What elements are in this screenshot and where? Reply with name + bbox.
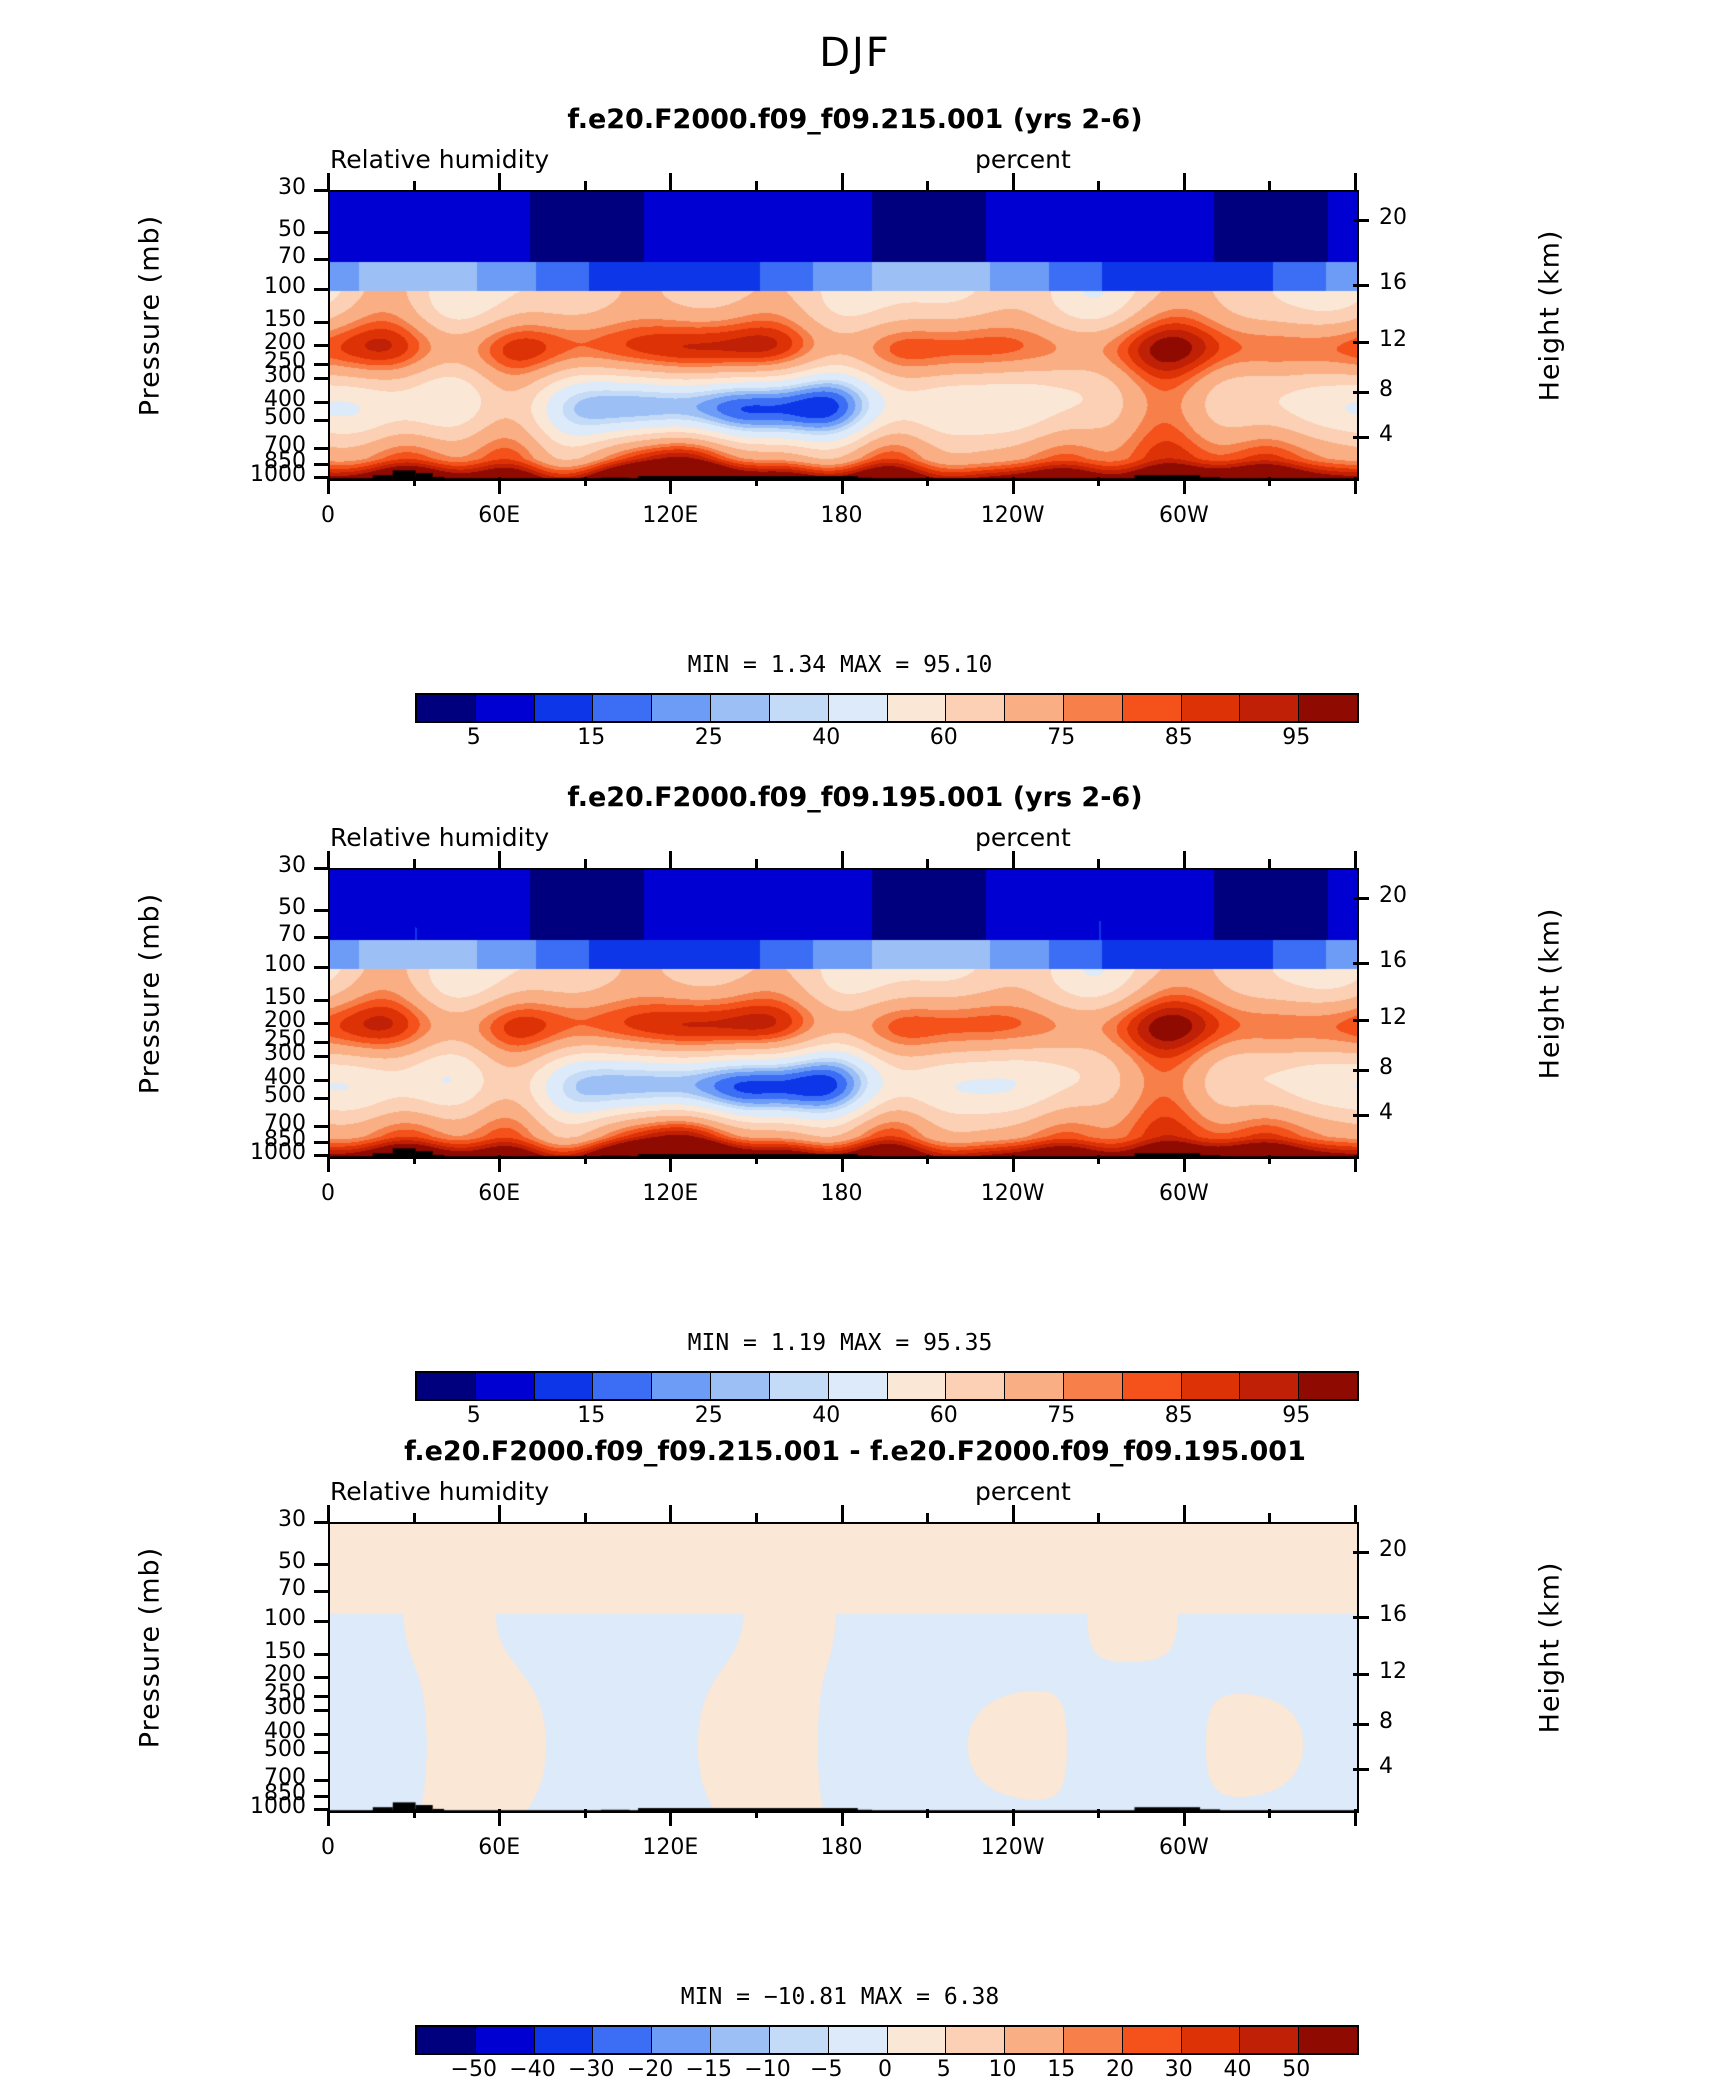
colorbar-swatch — [1064, 2027, 1123, 2053]
colorbar-swatch — [417, 695, 476, 721]
x-tick-mark-top — [755, 859, 758, 868]
y2-tick-mark — [1353, 284, 1369, 287]
x-tick-mark-top — [1097, 1513, 1100, 1522]
x-tick-mark — [1012, 477, 1015, 494]
colorbar-swatch — [652, 695, 711, 721]
colorbar-swatch — [535, 2027, 594, 2053]
colorbar-swatch — [1005, 2027, 1064, 2053]
x-tick-mark — [926, 477, 929, 486]
y2-tick-label: 8 — [1379, 377, 1393, 402]
colorbar-swatch — [476, 2027, 535, 2053]
y-tick-mark — [314, 1022, 330, 1025]
y2-tick-label: 20 — [1379, 205, 1407, 230]
y2-tick-label: 20 — [1379, 883, 1407, 908]
y-tick-label: 1000 — [250, 462, 306, 487]
y-tick-mark — [314, 344, 330, 347]
x-tick-mark-top — [413, 181, 416, 190]
x-tick-mark — [1183, 1809, 1186, 1826]
y-tick-mark — [314, 1141, 330, 1144]
colorbar-difference — [415, 2025, 1359, 2055]
x-tick-mark — [669, 477, 672, 494]
colorbar-tick-label: 40 — [812, 725, 840, 750]
colorbar-tick-label: 0 — [878, 2057, 892, 2082]
contour-plot-case-215 — [328, 190, 1359, 481]
units-label-panel-3: percent — [975, 1477, 1071, 1506]
colorbar-swatch — [593, 695, 652, 721]
colorbar-swatch — [770, 695, 829, 721]
colorbar-swatch — [770, 1373, 829, 1399]
x-tick-label: 60W — [1159, 503, 1209, 528]
colorbar-swatch — [888, 695, 947, 721]
y-tick-mark — [314, 258, 330, 261]
y2-axis-title-panel-1: Height (km) — [1390, 300, 1710, 331]
colorbar-tick-label: 15 — [577, 725, 605, 750]
colorbar-swatch — [1123, 1373, 1182, 1399]
colorbar-tick-label: 60 — [930, 725, 958, 750]
y-tick-mark — [314, 1079, 330, 1082]
x-tick-mark — [584, 1155, 587, 1164]
y-tick-label: 150 — [264, 307, 306, 332]
x-tick-mark-top — [584, 859, 587, 868]
y-tick-mark — [314, 966, 330, 969]
colorbar-swatch — [1240, 2027, 1299, 2053]
x-tick-label: 0 — [321, 1835, 335, 1860]
y-tick-mark — [314, 1695, 330, 1698]
colorbar-swatch — [829, 1373, 888, 1399]
x-tick-mark-top — [669, 173, 672, 190]
x-tick-mark — [755, 477, 758, 486]
x-tick-mark — [1012, 1155, 1015, 1172]
colorbar-swatch — [1064, 695, 1123, 721]
colorbar-swatch — [1005, 695, 1064, 721]
x-tick-label: 120W — [981, 503, 1045, 528]
x-tick-mark-top — [1097, 859, 1100, 868]
y-tick-mark — [314, 1653, 330, 1656]
colorbar-panel-1 — [415, 693, 1359, 723]
x-tick-label: 120W — [981, 1181, 1045, 1206]
panel-title-case-195: f.e20.F2000.f09_f09.195.001 (yrs 2-6) — [0, 782, 1710, 813]
main-title: DJF — [0, 30, 1710, 76]
x-tick-mark — [327, 477, 330, 494]
colorbar-swatch — [1240, 1373, 1299, 1399]
x-tick-mark-top — [841, 1505, 844, 1522]
colorbar-swatch — [770, 2027, 829, 2053]
x-tick-mark — [413, 1155, 416, 1164]
y-tick-mark — [314, 419, 330, 422]
y-tick-mark — [314, 1055, 330, 1058]
x-tick-label: 120E — [642, 1181, 698, 1206]
minmax-panel-3: MIN = −10.81 MAX = 6.38 — [560, 1984, 1120, 2010]
x-tick-mark — [1268, 1155, 1271, 1164]
y-tick-mark — [314, 1795, 330, 1798]
y-tick-label: 70 — [278, 1576, 306, 1601]
colorbar-tick-label: 5 — [467, 725, 481, 750]
colorbar-swatch — [535, 1373, 594, 1399]
x-tick-mark-top — [841, 173, 844, 190]
y2-tick-mark — [1353, 1069, 1369, 1072]
y-tick-label: 30 — [278, 175, 306, 200]
y2-tick-label: 12 — [1379, 1005, 1407, 1030]
y2-tick-mark — [1353, 391, 1369, 394]
colorbar-swatch — [1240, 695, 1299, 721]
y2-tick-mark — [1353, 1019, 1369, 1022]
colorbar-tick-label: 40 — [1224, 2057, 1252, 2082]
x-tick-mark — [841, 477, 844, 494]
x-tick-mark-top — [1012, 851, 1015, 868]
y-tick-mark — [314, 1041, 330, 1044]
colorbar-swatch — [946, 1373, 1005, 1399]
colorbar-swatch — [1182, 2027, 1241, 2053]
x-tick-mark — [926, 1155, 929, 1164]
colorbar-swatch — [1182, 695, 1241, 721]
x-tick-mark — [1268, 1809, 1271, 1818]
colorbar-labels-difference: −50−40−30−20−15−10−505101520304050 — [415, 2057, 1355, 2087]
contour-plot-difference — [328, 1522, 1359, 1813]
colorbar-panel-2 — [415, 1371, 1359, 1401]
x-tick-label: 60W — [1159, 1835, 1209, 1860]
colorbar-tick-label: −50 — [451, 2057, 497, 2082]
colorbar-swatch — [593, 1373, 652, 1399]
x-tick-mark — [413, 1809, 416, 1818]
colorbar-tick-label: −15 — [686, 2057, 732, 2082]
y2-tick-mark — [1353, 219, 1369, 222]
contour-plot-case-195 — [328, 868, 1359, 1159]
y-tick-mark — [314, 401, 330, 404]
x-tick-mark-top — [926, 859, 929, 868]
y-tick-mark — [314, 1733, 330, 1736]
colorbar-swatch — [946, 695, 1005, 721]
y-tick-label: 70 — [278, 922, 306, 947]
y2-axis-title-panel-3: Height (km) — [1390, 1632, 1710, 1663]
colorbar-swatch — [888, 1373, 947, 1399]
x-tick-mark-top — [755, 181, 758, 190]
y-tick-label: 150 — [264, 985, 306, 1010]
x-tick-mark — [1183, 477, 1186, 494]
x-tick-mark-top — [1012, 1505, 1015, 1522]
y-tick-mark — [314, 1709, 330, 1712]
colorbar-tick-label: 75 — [1047, 725, 1075, 750]
y-tick-mark — [314, 1751, 330, 1754]
colorbar-swatch — [476, 1373, 535, 1399]
units-label-panel-1: percent — [975, 145, 1071, 174]
x-tick-label: 180 — [821, 1835, 863, 1860]
y-tick-label: 300 — [264, 1041, 306, 1066]
y-tick-mark — [314, 1563, 330, 1566]
y2-tick-mark — [1353, 897, 1369, 900]
y2-axis-title-panel-2: Height (km) — [1390, 978, 1710, 1009]
x-tick-mark-top — [1012, 173, 1015, 190]
x-tick-mark — [327, 1155, 330, 1172]
x-tick-mark-top — [1183, 851, 1186, 868]
x-tick-mark-top — [413, 1513, 416, 1522]
colorbar-swatch — [593, 2027, 652, 2053]
colorbar-swatch — [888, 2027, 947, 2053]
x-tick-mark-top — [755, 1513, 758, 1522]
x-tick-label: 60E — [478, 1181, 520, 1206]
y2-tick-label: 16 — [1379, 948, 1407, 973]
x-tick-mark — [1097, 477, 1100, 486]
x-tick-mark — [755, 1809, 758, 1818]
x-tick-mark-top — [327, 1505, 330, 1522]
x-tick-mark-top — [498, 1505, 501, 1522]
x-tick-mark-top — [1183, 173, 1186, 190]
colorbar-labels-panel-2: 515254060758595 — [415, 1403, 1355, 1433]
y-tick-label: 30 — [278, 853, 306, 878]
colorbar-tick-label: 5 — [467, 1403, 481, 1428]
y-tick-label: 50 — [278, 895, 306, 920]
x-tick-mark-top — [584, 181, 587, 190]
variable-label-panel-1: Relative humidity — [330, 145, 549, 174]
colorbar-swatch — [1182, 1373, 1241, 1399]
x-tick-mark-top — [584, 1513, 587, 1522]
y-tick-mark — [314, 321, 330, 324]
colorbar-tick-label: −5 — [810, 2057, 842, 2082]
y2-tick-label: 4 — [1379, 1754, 1393, 1779]
x-tick-mark — [841, 1809, 844, 1826]
y-tick-label: 300 — [264, 363, 306, 388]
x-tick-label: 120E — [642, 1835, 698, 1860]
x-tick-mark — [1354, 1155, 1357, 1172]
colorbar-tick-label: 40 — [812, 1403, 840, 1428]
x-tick-mark-top — [1268, 181, 1271, 190]
x-tick-mark-top — [669, 851, 672, 868]
y2-tick-label: 12 — [1379, 327, 1407, 352]
x-tick-mark-top — [1183, 1505, 1186, 1522]
panel-title-case-215: f.e20.F2000.f09_f09.215.001 (yrs 2-6) — [0, 104, 1710, 135]
y-tick-mark — [314, 377, 330, 380]
y2-tick-mark — [1353, 341, 1369, 344]
x-tick-mark-top — [1268, 1513, 1271, 1522]
colorbar-swatch — [1123, 2027, 1182, 2053]
colorbar-tick-label: −30 — [568, 2057, 614, 2082]
x-tick-label: 120E — [642, 503, 698, 528]
y2-tick-label: 8 — [1379, 1055, 1393, 1080]
colorbar-swatch — [946, 2027, 1005, 2053]
colorbar-swatch — [829, 695, 888, 721]
y-tick-mark — [314, 999, 330, 1002]
colorbar-tick-label: −10 — [744, 2057, 790, 2082]
x-tick-mark — [584, 477, 587, 486]
y2-tick-mark — [1353, 1768, 1369, 1771]
x-tick-mark-top — [327, 851, 330, 868]
x-tick-mark — [926, 1809, 929, 1818]
x-tick-mark — [413, 477, 416, 486]
y2-tick-label: 20 — [1379, 1537, 1407, 1562]
x-tick-mark-top — [1354, 1505, 1357, 1522]
variable-label-panel-3: Relative humidity — [330, 1477, 549, 1506]
colorbar-swatch — [652, 2027, 711, 2053]
y-tick-label: 100 — [264, 274, 306, 299]
y-tick-mark — [314, 1779, 330, 1782]
colorbar-tick-label: 25 — [695, 725, 723, 750]
y-tick-label: 500 — [264, 1083, 306, 1108]
colorbar-swatch — [711, 695, 770, 721]
x-tick-mark-top — [1268, 859, 1271, 868]
units-label-panel-2: percent — [975, 823, 1071, 852]
colorbar-tick-label: −20 — [627, 2057, 673, 2082]
y-tick-mark — [314, 231, 330, 234]
colorbar-swatch — [535, 695, 594, 721]
colorbar-swatch — [417, 2027, 476, 2053]
x-tick-mark-top — [841, 851, 844, 868]
x-tick-mark-top — [926, 1513, 929, 1522]
colorbar-tick-label: 5 — [937, 2057, 951, 2082]
panel-title-difference: f.e20.F2000.f09_f09.215.001 - f.e20.F200… — [0, 1436, 1710, 1467]
colorbar-tick-label: 15 — [577, 1403, 605, 1428]
colorbar-labels-panel-1: 515254060758595 — [415, 725, 1355, 755]
y-tick-label: 70 — [278, 244, 306, 269]
colorbar-swatch — [1123, 695, 1182, 721]
x-tick-mark — [1097, 1809, 1100, 1818]
y-tick-label: 500 — [264, 405, 306, 430]
y-tick-mark — [314, 936, 330, 939]
colorbar-swatch — [829, 2027, 888, 2053]
colorbar-swatch — [711, 1373, 770, 1399]
x-tick-mark — [669, 1155, 672, 1172]
y-tick-mark — [314, 909, 330, 912]
colorbar-swatch — [711, 2027, 770, 2053]
colorbar-tick-label: 60 — [930, 1403, 958, 1428]
y-tick-mark — [314, 463, 330, 466]
y-tick-label: 30 — [278, 1507, 306, 1532]
x-tick-label: 0 — [321, 1181, 335, 1206]
colorbar-tick-label: 85 — [1165, 725, 1193, 750]
y-tick-label: 150 — [264, 1639, 306, 1664]
y-tick-mark — [314, 1620, 330, 1623]
y-tick-label: 1000 — [250, 1794, 306, 1819]
x-tick-mark — [498, 1155, 501, 1172]
y-tick-label: 50 — [278, 217, 306, 242]
x-tick-mark — [841, 1155, 844, 1172]
colorbar-swatch — [1299, 695, 1357, 721]
y2-tick-label: 4 — [1379, 422, 1393, 447]
x-tick-mark-top — [669, 1505, 672, 1522]
colorbar-swatch — [1299, 2027, 1357, 2053]
colorbar-tick-label: 95 — [1282, 725, 1310, 750]
y-tick-label: 50 — [278, 1549, 306, 1574]
y-tick-mark — [314, 363, 330, 366]
x-tick-label: 60W — [1159, 1181, 1209, 1206]
x-tick-mark-top — [327, 173, 330, 190]
x-tick-label: 180 — [821, 1181, 863, 1206]
x-tick-mark — [755, 1155, 758, 1164]
x-tick-mark-top — [1097, 181, 1100, 190]
y-tick-label: 300 — [264, 1695, 306, 1720]
y-tick-mark — [314, 288, 330, 291]
x-tick-mark-top — [413, 859, 416, 868]
y2-tick-mark — [1353, 1114, 1369, 1117]
y2-tick-label: 4 — [1379, 1100, 1393, 1125]
colorbar-swatch — [1005, 1373, 1064, 1399]
colorbar-tick-label: 95 — [1282, 1403, 1310, 1428]
y2-tick-label: 16 — [1379, 270, 1407, 295]
x-tick-mark — [1183, 1155, 1186, 1172]
colorbar-tick-label: 85 — [1165, 1403, 1193, 1428]
x-tick-mark — [1012, 1809, 1015, 1826]
x-tick-mark-top — [1354, 173, 1357, 190]
x-tick-mark — [327, 1809, 330, 1826]
colorbar-tick-label: 75 — [1047, 1403, 1075, 1428]
y-tick-mark — [314, 1590, 330, 1593]
y2-tick-label: 8 — [1379, 1709, 1393, 1734]
x-tick-label: 180 — [821, 503, 863, 528]
y-tick-label: 500 — [264, 1737, 306, 1762]
y-tick-mark — [314, 1676, 330, 1679]
x-tick-mark — [498, 1809, 501, 1826]
colorbar-tick-label: −40 — [509, 2057, 555, 2082]
x-tick-mark-top — [498, 173, 501, 190]
colorbar-swatch — [1299, 1373, 1357, 1399]
y2-tick-mark — [1353, 1616, 1369, 1619]
colorbar-swatch — [417, 1373, 476, 1399]
colorbar-tick-label: 20 — [1106, 2057, 1134, 2082]
colorbar-swatch — [476, 695, 535, 721]
y2-tick-label: 16 — [1379, 1602, 1407, 1627]
x-tick-mark — [669, 1809, 672, 1826]
x-tick-label: 60E — [478, 1835, 520, 1860]
colorbar-tick-label: 30 — [1165, 2057, 1193, 2082]
y-tick-label: 1000 — [250, 1140, 306, 1165]
x-tick-mark-top — [1354, 851, 1357, 868]
y-tick-mark — [314, 447, 330, 450]
x-tick-mark-top — [498, 851, 501, 868]
x-tick-mark — [498, 477, 501, 494]
x-tick-mark-top — [926, 181, 929, 190]
x-tick-mark — [1354, 477, 1357, 494]
minmax-panel-1: MIN = 1.34 MAX = 95.10 — [560, 652, 1120, 678]
colorbar-tick-label: 15 — [1047, 2057, 1075, 2082]
y2-tick-mark — [1353, 1723, 1369, 1726]
minmax-panel-2: MIN = 1.19 MAX = 95.35 — [560, 1330, 1120, 1356]
x-tick-mark — [1268, 477, 1271, 486]
x-tick-mark — [584, 1809, 587, 1818]
x-tick-mark — [1097, 1155, 1100, 1164]
y-tick-mark — [314, 1125, 330, 1128]
y-tick-label: 100 — [264, 1606, 306, 1631]
colorbar-tick-label: 25 — [695, 1403, 723, 1428]
y2-tick-label: 12 — [1379, 1659, 1407, 1684]
y2-tick-mark — [1353, 1551, 1369, 1554]
colorbar-tick-label: 10 — [989, 2057, 1017, 2082]
y2-tick-mark — [1353, 1673, 1369, 1676]
x-tick-label: 0 — [321, 503, 335, 528]
colorbar-tick-label: 50 — [1282, 2057, 1310, 2082]
y2-tick-mark — [1353, 436, 1369, 439]
y2-tick-mark — [1353, 962, 1369, 965]
x-tick-mark — [1354, 1809, 1357, 1826]
variable-label-panel-2: Relative humidity — [330, 823, 549, 852]
colorbar-swatch — [1064, 1373, 1123, 1399]
y-tick-label: 100 — [264, 952, 306, 977]
y-tick-mark — [314, 1097, 330, 1100]
colorbar-swatch — [652, 1373, 711, 1399]
x-tick-label: 60E — [478, 503, 520, 528]
x-tick-label: 120W — [981, 1835, 1045, 1860]
